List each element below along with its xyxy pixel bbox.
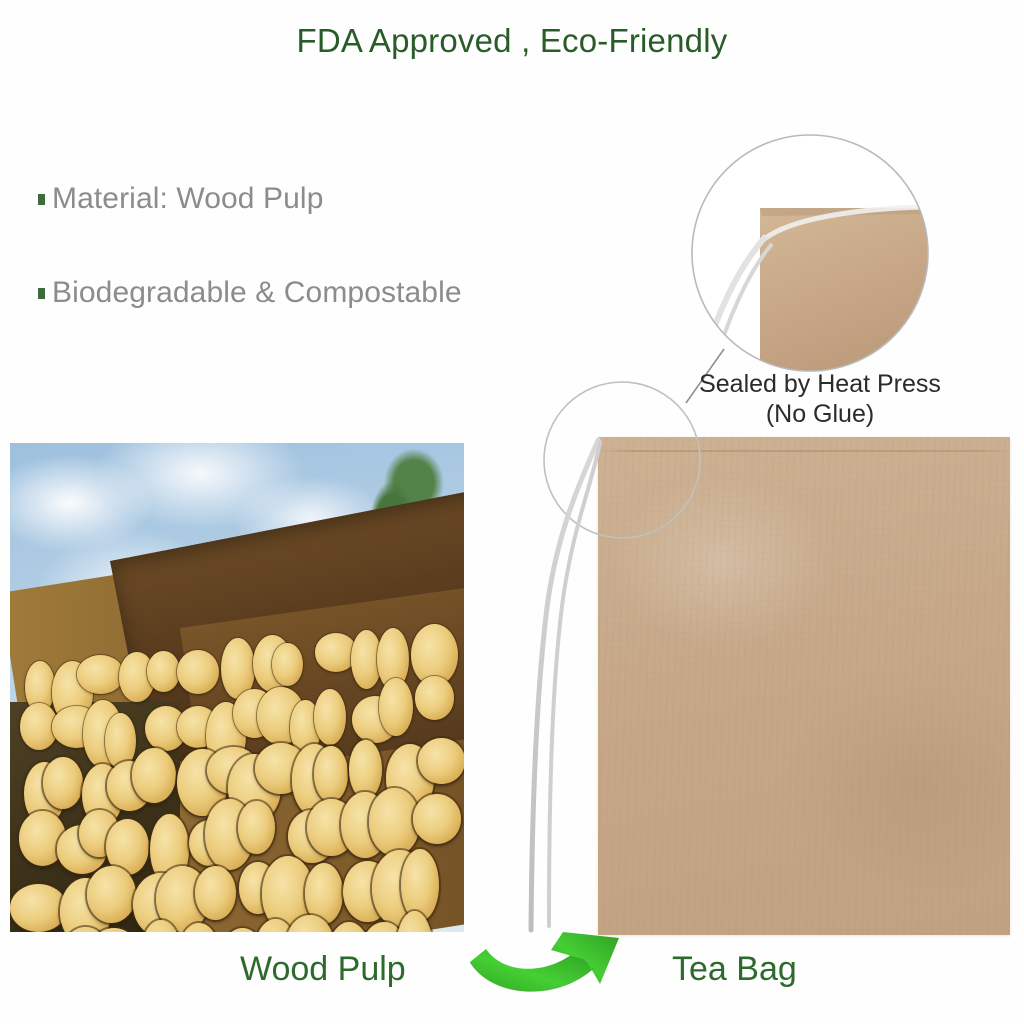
tea-bag-product [598,437,1010,935]
photo-log-face [314,746,348,802]
footer-label-wood-pulp: Wood Pulp [240,950,406,989]
square-bullet-icon [38,288,45,299]
photo-log-face [415,676,455,720]
footer-label-tea-bag: Tea Bag [672,950,797,989]
photo-log-face [147,651,180,692]
page-title: FDA Approved , Eco-Friendly [0,22,1024,60]
tea-bag-string-right [549,442,600,926]
photo-log-face [401,849,439,921]
photo-log-face [43,757,83,809]
tea-bag-paper-grain [598,437,1010,935]
tea-bag-string-left [531,440,598,930]
feature-item-biodegradable: Biodegradable & Compostable [38,276,462,310]
photo-log-pile [10,443,464,932]
infographic-canvas: FDA Approved , Eco-Friendly Material: Wo… [0,0,1024,1024]
square-bullet-icon [38,194,45,205]
callout-caption: Sealed by Heat Press (No Glue) [640,370,1000,429]
curved-arrow-icon [470,932,619,991]
magnified-corner-view [692,135,930,374]
photo-log-face [314,689,346,745]
feature-label-material: Material: Wood Pulp [52,182,323,216]
photo-log-face [369,788,420,855]
photo-log-face [379,678,413,736]
magnified-string-seam [763,207,930,240]
magnified-string-a [700,236,766,372]
wood-pulp-photo: PuLP [10,443,464,932]
magnifier-large-circle [692,135,928,371]
callout-subtitle: (No Glue) [640,400,1000,430]
callout-title: Sealed by Heat Press [640,370,1000,400]
magnified-bag-corner [760,208,928,372]
photo-log-face [238,801,275,854]
photo-log-face [87,866,136,922]
feature-label-biodegradable: Biodegradable & Compostable [52,276,462,310]
photo-log-face [195,866,236,921]
photo-log-face [413,794,461,843]
photo-log-face [418,738,464,784]
photo-log-face [10,884,67,932]
photo-log-face [177,650,219,694]
photo-log-face [77,655,124,694]
photo-log-face [272,643,303,686]
magnified-string-b [712,244,772,374]
feature-item-material: Material: Wood Pulp [38,182,323,216]
photo-log-face [349,740,381,799]
